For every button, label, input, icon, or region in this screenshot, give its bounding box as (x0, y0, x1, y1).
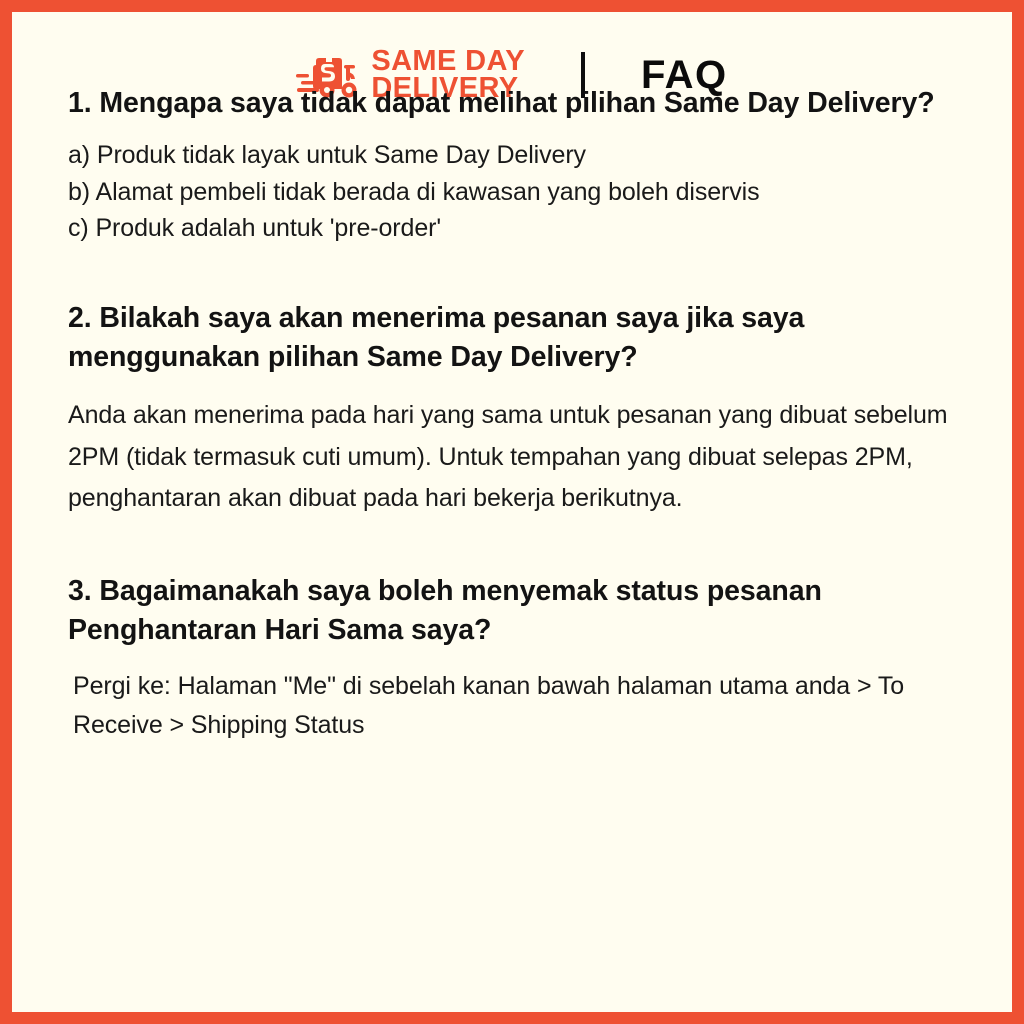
faq-answer-option-c: c) Produk adalah untuk 'pre-order' (68, 210, 956, 247)
faq-item-2: 2. Bilakah saya akan menerima pesanan sa… (68, 299, 956, 520)
faq-question-1: 1. Mengapa saya tidak dapat melihat pili… (68, 84, 956, 123)
faq-item-3: 3. Bagaimanakah saya boleh menyemak stat… (68, 572, 956, 746)
brand-line-1: SAME DAY (371, 48, 525, 75)
faq-answer-2: Anda akan menerima pada hari yang sama u… (68, 395, 956, 520)
faq-card: SAME DAY DELIVERY FAQ 1. Mengapa saya ti… (12, 12, 1012, 1012)
faq-answer-1: a) Produk tidak layak untuk Same Day Del… (68, 137, 956, 247)
faq-answer-option-a: a) Produk tidak layak untuk Same Day Del… (68, 137, 956, 174)
faq-item-1: 1. Mengapa saya tidak dapat melihat pili… (68, 84, 956, 247)
faq-question-2: 2. Bilakah saya akan menerima pesanan sa… (68, 299, 956, 378)
faq-question-3: 3. Bagaimanakah saya boleh menyemak stat… (68, 572, 956, 651)
faq-answer-3: Pergi ke: Halaman "Me" di sebelah kanan … (68, 667, 956, 746)
header: SAME DAY DELIVERY FAQ (12, 12, 1012, 84)
faq-answer-option-b: b) Alamat pembeli tidak berada di kawasa… (68, 174, 956, 211)
faq-content: 1. Mengapa saya tidak dapat melihat pili… (12, 84, 1012, 746)
